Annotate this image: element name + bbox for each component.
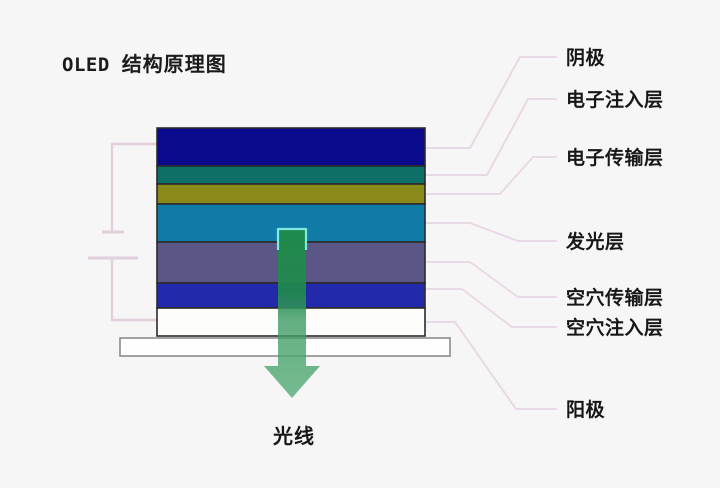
- label-hole-injection: 空穴注入层: [566, 313, 664, 340]
- battery-symbol: [88, 232, 138, 258]
- layer-electron-injection: [157, 166, 425, 184]
- page-title: OLED 结构原理图: [62, 48, 227, 77]
- label-anode: 阳极: [566, 395, 605, 422]
- cathode-wire: [112, 144, 157, 232]
- title-cjk: 结构原理图: [122, 52, 227, 76]
- label-emissive: 发光层: [566, 227, 625, 254]
- leader-cathode: [425, 57, 556, 148]
- light-beam-label: 光线: [273, 420, 315, 449]
- leader-emissive: [425, 223, 556, 241]
- leader-anode: [425, 322, 556, 409]
- label-cathode: 阴极: [566, 43, 605, 70]
- anode-wire: [112, 258, 157, 320]
- title-latin: OLED: [62, 54, 110, 76]
- label-electron-injection: 电子注入层: [566, 85, 664, 112]
- leader-hole-transport: [425, 262, 556, 297]
- oled-structure-diagram: OLED 结构原理图 阴极电子注入层电子传输层发光层空穴传输层空穴注入层阳极 光…: [0, 0, 720, 488]
- label-electron-transport: 电子传输层: [566, 143, 664, 170]
- layer-electron-transport: [157, 184, 425, 204]
- label-hole-transport: 空穴传输层: [566, 283, 664, 310]
- layer-cathode: [157, 128, 425, 166]
